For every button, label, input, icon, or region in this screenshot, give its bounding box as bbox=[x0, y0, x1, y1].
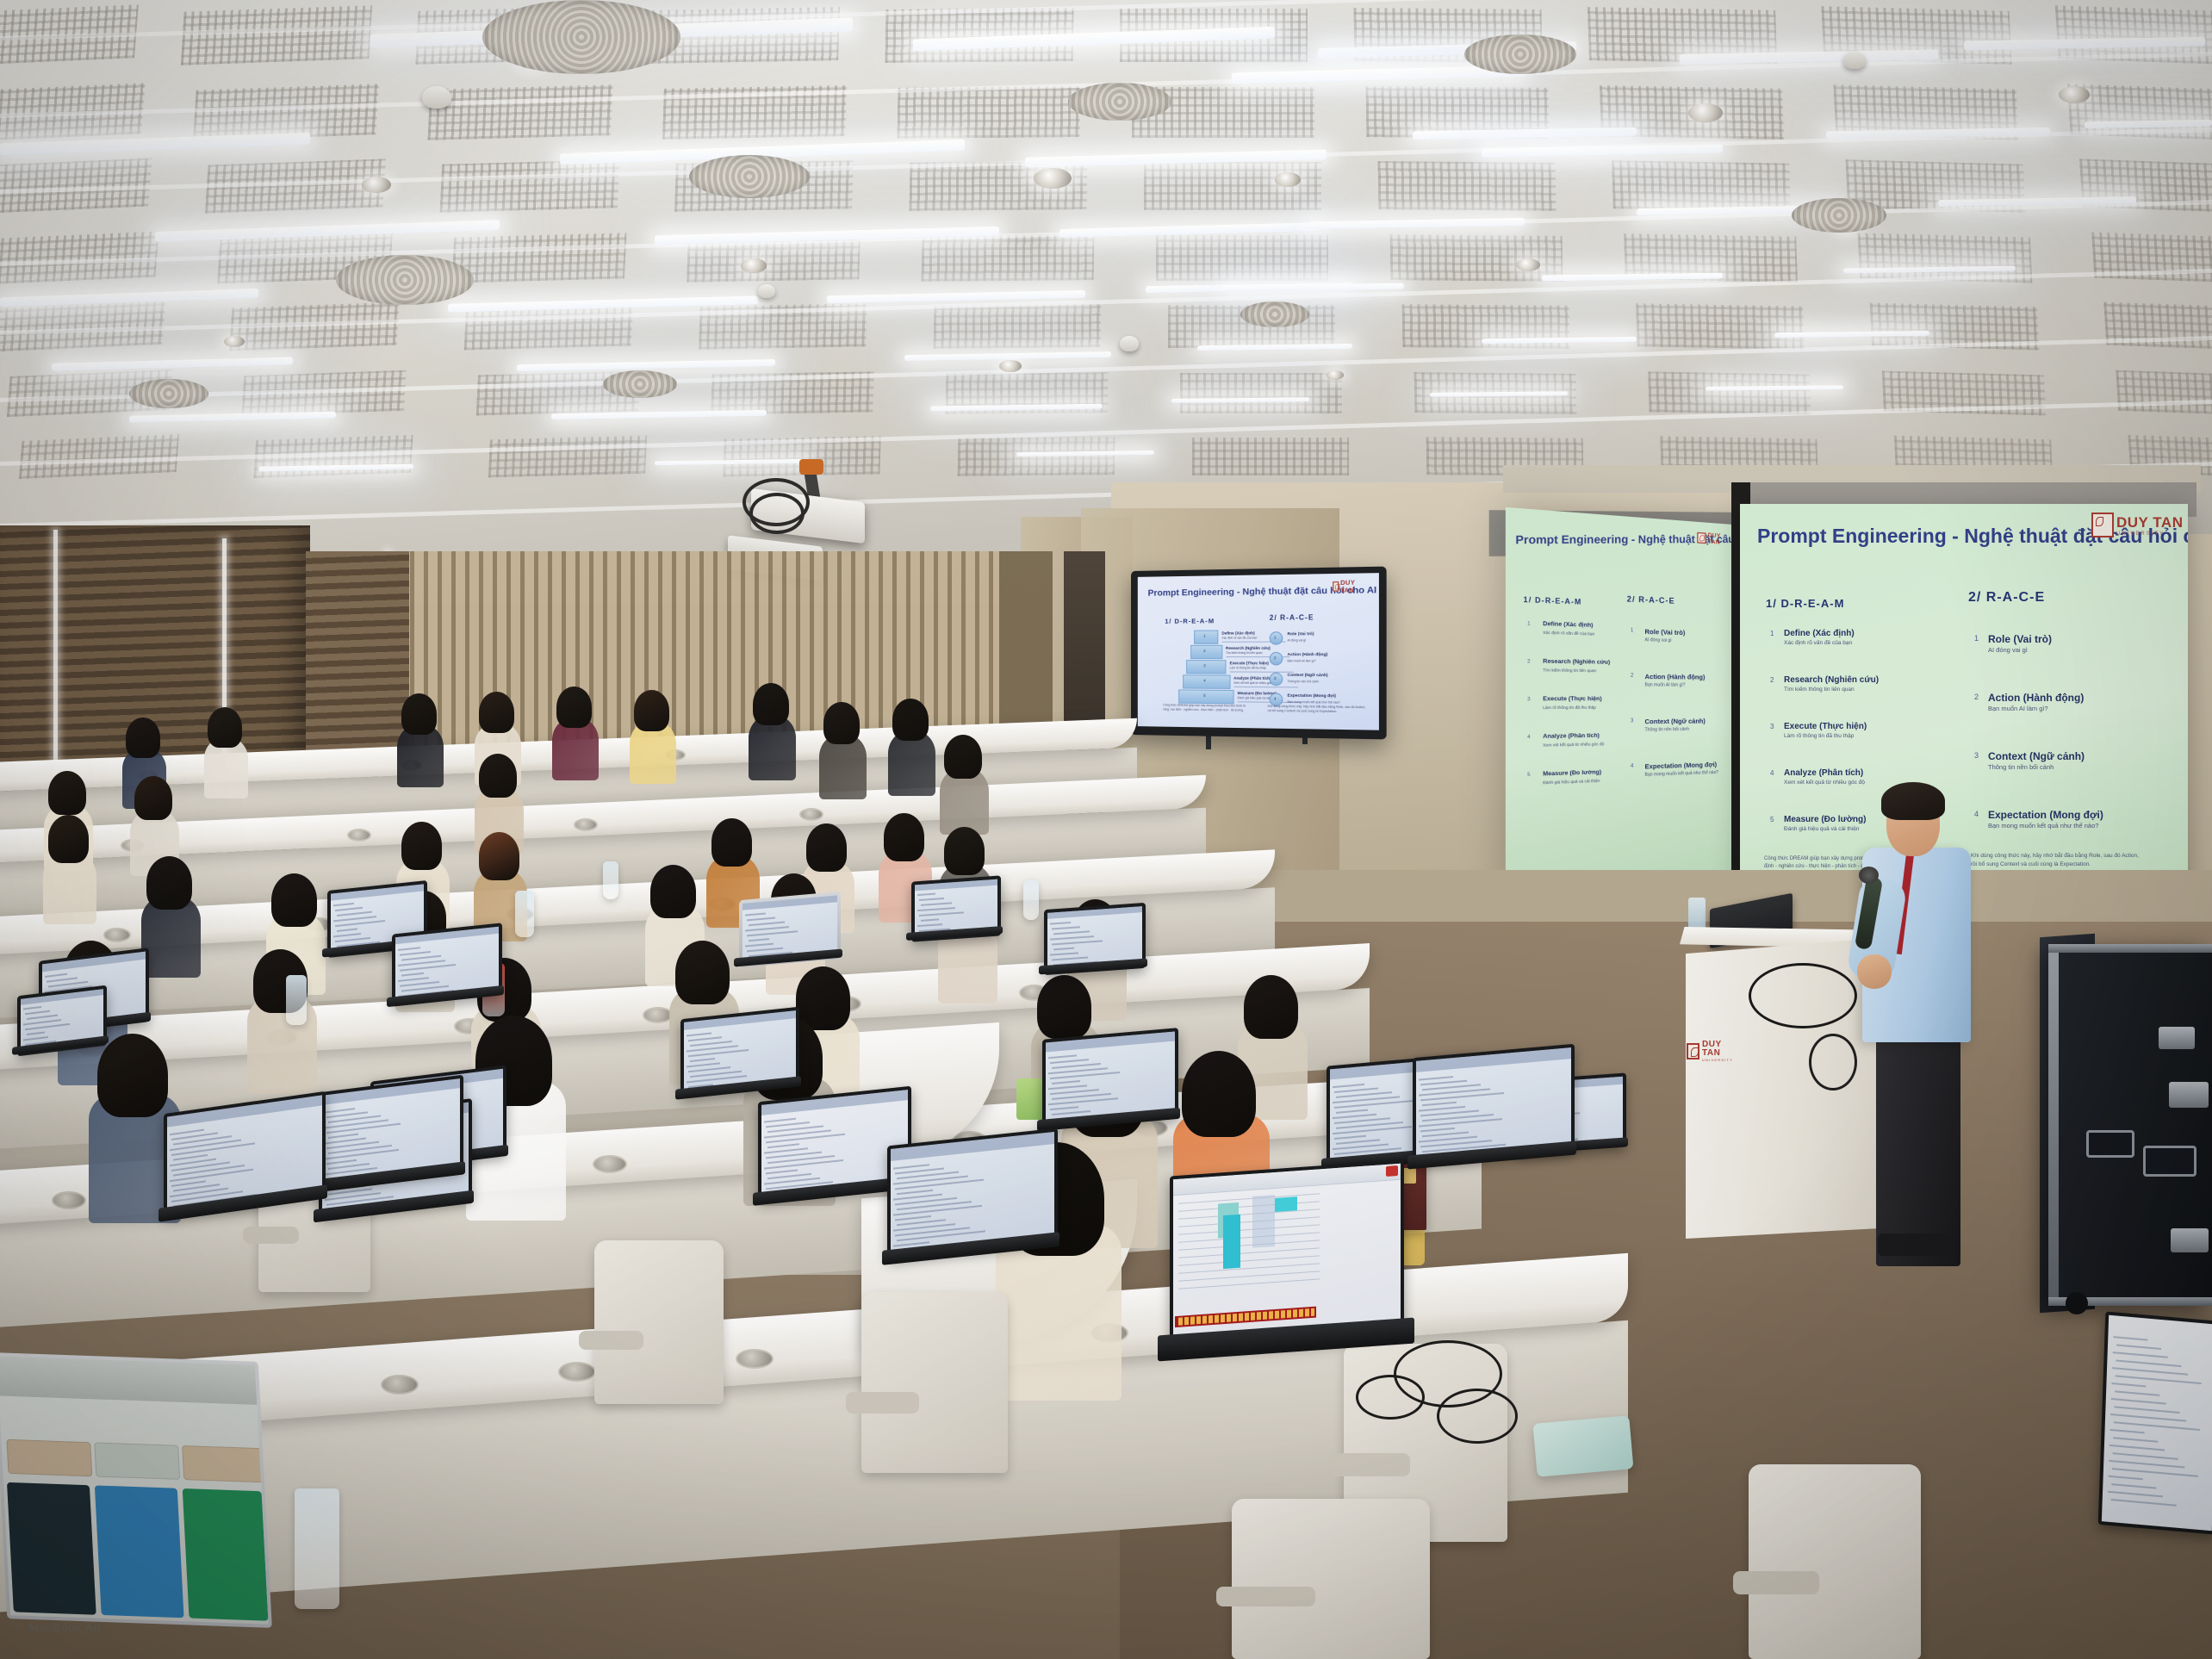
slide-item-number: 5 bbox=[1770, 816, 1774, 823]
lecture-hall-photo: Prompt Engineering - Nghệ thuật đặt câu … bbox=[0, 0, 2212, 1659]
slide-item-subtitle: Đánh giá hiệu quả và cải thiện bbox=[1543, 778, 1600, 785]
pyramid-step bbox=[1194, 630, 1218, 643]
laptop-text-line bbox=[398, 947, 420, 951]
laptop-text-line bbox=[2109, 1476, 2143, 1480]
laptop-text-line bbox=[917, 907, 955, 911]
slide-item-number: 2 bbox=[1974, 693, 1979, 701]
audience-hair bbox=[48, 771, 86, 815]
dashboard-card[interactable] bbox=[7, 1482, 96, 1615]
pyramid-rule bbox=[1230, 671, 1294, 672]
slide-heading-dream: 1/ D-R-E-A-M bbox=[1766, 597, 1844, 610]
laptop-text-line bbox=[2115, 1390, 2159, 1396]
case-handle[interactable] bbox=[2143, 1146, 2196, 1177]
pyramid-step-number: 2 bbox=[1203, 649, 1206, 653]
chair-armrest bbox=[579, 1331, 643, 1351]
laptop-text-line bbox=[398, 977, 429, 982]
slide-item-subtitle: Bạn mong muốn kết quả như thế nào? bbox=[1644, 769, 1718, 777]
slide-item-title: Context (Ngữ cảnh) bbox=[1988, 750, 2085, 762]
audience-hair bbox=[1244, 975, 1298, 1039]
pyramid-step bbox=[1178, 689, 1233, 704]
laptop-text-line bbox=[747, 947, 783, 952]
race-step-subtitle: Bạn mong muốn kết quả như thế nào? bbox=[1288, 700, 1340, 705]
laptop-text-line bbox=[917, 923, 942, 927]
slide-item-number: 1 bbox=[1527, 621, 1530, 627]
laptop-text-line bbox=[690, 1058, 715, 1062]
laptop-text-line bbox=[337, 928, 357, 931]
notification-banner bbox=[1175, 1307, 1316, 1327]
audience-hair bbox=[146, 856, 192, 910]
recessed-downlight bbox=[1275, 172, 1301, 187]
slide-item-subtitle: Đánh giá hiệu quả và cải thiện bbox=[1784, 826, 1859, 832]
laptop-text-line bbox=[921, 919, 939, 922]
laptop-text-line bbox=[2111, 1398, 2166, 1405]
laptop-text-line bbox=[895, 1179, 984, 1190]
slide-footnote-dream: Công thức DREAM giúp bạn xây dựng prompt… bbox=[1163, 703, 1250, 713]
laptop-text-line bbox=[2114, 1421, 2200, 1431]
slide-item-subtitle: Tìm kiếm thông tin liên quan bbox=[1784, 687, 1855, 693]
duy-tan-logo: DUY TAN bbox=[1697, 531, 1733, 547]
laptop-text-line bbox=[749, 938, 769, 941]
race-numbered-list: 1Role (Vai trò)AI đóng vai gì2Action (Hà… bbox=[1138, 573, 1379, 577]
ceiling-tile bbox=[922, 234, 1095, 282]
air-diffuser bbox=[482, 0, 680, 74]
pyramid-step-number: 1 bbox=[1203, 634, 1206, 638]
laptop-text-line bbox=[2109, 1445, 2165, 1451]
case-caster bbox=[2066, 1292, 2088, 1314]
smoke-detector bbox=[758, 284, 775, 298]
laptop-text-line bbox=[917, 893, 935, 896]
recessed-downlight bbox=[362, 177, 391, 193]
laptop-text-line bbox=[1050, 922, 1071, 925]
laptop-text-line bbox=[328, 1133, 358, 1138]
laptop-text-line bbox=[401, 972, 424, 976]
slide-item-subtitle: AI đóng vai gì bbox=[1644, 637, 1671, 643]
slide-footnote-race: Khi dùng công thức này, hãy nhớ bắt đầu … bbox=[1268, 705, 1366, 716]
ceiling-tile bbox=[1612, 160, 1791, 212]
air-diffuser bbox=[689, 155, 810, 198]
slide-item-subtitle: Thông tin nền bối cảnh bbox=[1988, 763, 2054, 771]
ceiling-tile bbox=[440, 159, 620, 212]
slide-item-title: Measure (Đo lường) bbox=[1784, 815, 1866, 824]
laptop-text-line bbox=[326, 1122, 401, 1134]
laptop-text-line bbox=[745, 912, 766, 916]
ceiling-tile bbox=[1192, 438, 1349, 475]
slide-item-number: 4 bbox=[1527, 735, 1530, 741]
race-step-subtitle: AI đóng vai gì bbox=[1288, 638, 1307, 642]
slide-item-title: Research (Nghiên cứu) bbox=[1784, 675, 1879, 685]
laptop-text-line bbox=[326, 1159, 357, 1165]
laptop-text-line bbox=[2113, 1351, 2168, 1358]
laptop-text-line bbox=[1048, 1055, 1077, 1059]
ceiling-tile bbox=[2116, 370, 2212, 416]
pyramid-step-number: 5 bbox=[1203, 693, 1206, 698]
pyramid-step-subtitle: Xác định rõ vấn đề của bạn bbox=[1221, 636, 1257, 639]
race-step-number: 4 bbox=[1274, 696, 1277, 700]
laptop-text-line bbox=[1052, 926, 1080, 929]
laptop-text-line bbox=[1050, 935, 1094, 941]
ceiling-tile bbox=[488, 436, 647, 478]
slide-heading-dream: 1/ D-R-E-A-M bbox=[1524, 595, 1582, 606]
chair bbox=[861, 1292, 1008, 1473]
laptop-right-edge bbox=[2098, 1311, 2212, 1534]
audience-hair bbox=[1182, 1051, 1256, 1138]
audience-hair bbox=[479, 754, 517, 798]
chair bbox=[1232, 1499, 1430, 1659]
dashboard-tile[interactable] bbox=[182, 1445, 263, 1482]
recessed-downlight bbox=[1327, 370, 1344, 380]
laptop-text-line bbox=[1333, 1084, 1364, 1088]
projector-cable bbox=[749, 493, 805, 534]
cable-grommet bbox=[558, 1362, 596, 1382]
laptop-text-line bbox=[335, 936, 370, 941]
air-diffuser bbox=[1068, 83, 1171, 121]
projection-screen-left: Prompt Engineering - Nghệ thuật đặt câu … bbox=[1506, 507, 1744, 888]
laptop-text-line bbox=[1052, 1080, 1080, 1084]
slide-item-title: Define (Xác định) bbox=[1543, 621, 1593, 629]
accessory-case bbox=[1533, 1415, 1634, 1477]
ceiling-tile bbox=[1648, 371, 1811, 414]
slide-item-subtitle: Bạn muốn AI làm gì? bbox=[1644, 682, 1685, 687]
slide-item-subtitle: Xem xét kết quả từ nhiều góc độ bbox=[1784, 780, 1865, 786]
race-step-title: Expectation (Mong đợi) bbox=[1288, 694, 1336, 699]
laptop-text-line bbox=[45, 973, 67, 978]
slide-item-subtitle: Xác định rõ vấn đề của bạn bbox=[1784, 640, 1852, 646]
laptop-text-line bbox=[688, 1036, 722, 1041]
slide-item-subtitle: Làm rõ thông tin đã thu thập bbox=[1543, 705, 1596, 710]
slide-item-title: Expectation (Mong đợi) bbox=[1988, 809, 2103, 821]
pyramid-step-subtitle: Làm rõ thông tin đã thu thập bbox=[1230, 666, 1266, 669]
case-latch[interactable] bbox=[2159, 1027, 2195, 1049]
laptop-text-line bbox=[335, 906, 363, 910]
smoke-detector bbox=[422, 86, 451, 109]
laptop-text-line bbox=[2113, 1452, 2178, 1460]
recessed-downlight bbox=[1688, 103, 1723, 122]
slide-item-subtitle: Thông tin nền bối cảnh bbox=[1644, 726, 1688, 732]
laptop-text-line bbox=[23, 1006, 41, 1010]
laptop-text-line bbox=[25, 1010, 50, 1016]
ceiling-tile bbox=[2103, 302, 2212, 351]
audience-hair bbox=[892, 699, 929, 742]
laptop-text-line bbox=[47, 977, 78, 982]
slide-item-number: 3 bbox=[1974, 751, 1979, 760]
laptop-text-line bbox=[747, 930, 798, 936]
dashboard-tile[interactable] bbox=[6, 1439, 92, 1477]
macbook-screen bbox=[0, 1356, 269, 1624]
audience-hair bbox=[556, 687, 592, 728]
microphone-cable bbox=[1809, 1034, 1857, 1090]
slide-footnote-race: Khi dùng công thức này, hãy nhớ bắt đầu … bbox=[1971, 852, 2143, 869]
laptop-text-line bbox=[1050, 1107, 1078, 1111]
slide-item-title: Action (Hành động) bbox=[1988, 692, 2084, 704]
laptop-text-line bbox=[1333, 1114, 1376, 1119]
ceiling-tile bbox=[934, 304, 1102, 349]
slide-item-title: Role (Vai trò) bbox=[1644, 628, 1685, 637]
laptop-text-line bbox=[337, 910, 372, 916]
laptop-text-line bbox=[1334, 1135, 1366, 1140]
slide-item-subtitle: Tìm kiếm thông tin liên quan bbox=[1543, 668, 1596, 673]
audience-hair bbox=[48, 815, 90, 863]
laptop-text-line bbox=[895, 1215, 931, 1221]
presenter-legs bbox=[1876, 1034, 1960, 1266]
laptop-text-line bbox=[2116, 1375, 2202, 1384]
laptop-text-line bbox=[325, 1108, 355, 1113]
audience-hair bbox=[944, 827, 985, 875]
slide-heading-race: 2/ R-A-C-E bbox=[1270, 613, 1314, 622]
laptop-text-line bbox=[2116, 1359, 2181, 1367]
laptop-text-line bbox=[1050, 953, 1078, 956]
slide-item-number: 5 bbox=[1527, 773, 1530, 779]
laptop-text-line bbox=[767, 1144, 799, 1149]
projector-mount-cap bbox=[799, 459, 823, 475]
pyramid-step-title: Research (Nghiên cứu) bbox=[1226, 646, 1271, 650]
laptop-screen bbox=[1173, 1164, 1401, 1343]
laptop-text-line bbox=[400, 951, 431, 956]
slide-item-number: 3 bbox=[1527, 697, 1530, 703]
laptop-text-line bbox=[2116, 1344, 2161, 1350]
case-handle[interactable] bbox=[2086, 1130, 2134, 1158]
ceiling-tile bbox=[193, 84, 379, 140]
recessed-downlight bbox=[741, 258, 767, 273]
cable-loop bbox=[1356, 1375, 1425, 1420]
slide-item-title: Research (Nghiên cứu) bbox=[1543, 658, 1610, 666]
laptop-foreground bbox=[1170, 1159, 1404, 1346]
audience-hair bbox=[479, 832, 520, 880]
laptop-text-line bbox=[745, 942, 774, 947]
air-diffuser bbox=[603, 370, 677, 398]
dashboard-tile[interactable] bbox=[94, 1442, 180, 1480]
chair-armrest bbox=[1733, 1571, 1819, 1594]
smoke-detector bbox=[1843, 52, 1866, 69]
laptop-text-line bbox=[27, 1032, 45, 1036]
cable-grommet bbox=[381, 1375, 419, 1395]
laptop-text-line bbox=[1048, 1085, 1087, 1090]
microphone-head bbox=[1859, 867, 1879, 884]
presenter-hair bbox=[1881, 782, 1945, 820]
slide-heading-dream: 1/ D-R-E-A-M bbox=[1165, 617, 1215, 625]
browser-toolbar bbox=[0, 1356, 257, 1405]
microphone-cable bbox=[1749, 963, 1857, 1028]
slide-item-title: Define (Xác định) bbox=[1784, 629, 1855, 638]
audience-hair bbox=[401, 822, 443, 870]
slide-item-title: Execute (Thực hiện) bbox=[1543, 696, 1601, 703]
race-step-title: Role (Vai trò) bbox=[1288, 632, 1314, 637]
pyramid-step bbox=[1186, 660, 1226, 674]
pyramid-step-subtitle: Tìm kiếm thông tin liên quan bbox=[1226, 651, 1262, 655]
ceiling-tile bbox=[1390, 234, 1563, 282]
laptop-text-line bbox=[919, 912, 964, 917]
slide-item-title: Measure (Đo lường) bbox=[1543, 769, 1601, 778]
case-latch[interactable] bbox=[2171, 1228, 2209, 1252]
audience-hair bbox=[944, 735, 982, 779]
laptop-text-line bbox=[2110, 1429, 2145, 1433]
laptop-screen bbox=[2102, 1315, 2212, 1532]
slide-item-number: 2 bbox=[1527, 659, 1530, 665]
dashboard-card[interactable] bbox=[183, 1488, 269, 1621]
smoke-detector bbox=[1120, 336, 1139, 351]
cable-grommet bbox=[593, 1155, 627, 1173]
ceiling-tile bbox=[452, 233, 627, 283]
slide-item-subtitle: Xem xét kết quả từ nhiều góc độ bbox=[1543, 741, 1604, 747]
recessed-downlight bbox=[1034, 168, 1072, 189]
slide-item-number: 1 bbox=[1631, 628, 1633, 633]
pyramid-step bbox=[1190, 645, 1222, 659]
spreadsheet-highlight-cell bbox=[1252, 1195, 1275, 1248]
laptop-text-line bbox=[749, 921, 785, 926]
laptop-text-line bbox=[2111, 1483, 2156, 1489]
audience-hair bbox=[806, 823, 848, 872]
audience-hair bbox=[711, 818, 753, 867]
race-step-number: 2 bbox=[1274, 656, 1277, 660]
laptop-text-line bbox=[23, 1036, 48, 1041]
ceiling-tile bbox=[1180, 373, 1342, 413]
laptop-text-line bbox=[766, 1170, 798, 1175]
race-step-number: 3 bbox=[1274, 675, 1277, 680]
ceiling-tile bbox=[1636, 303, 1805, 349]
laptop-text-line bbox=[893, 1165, 929, 1170]
slide-item-title: Context (Ngữ cảnh) bbox=[1644, 717, 1705, 725]
air-diffuser bbox=[336, 255, 474, 305]
laptop-text-line bbox=[333, 902, 354, 905]
laptop-text-line bbox=[1420, 1128, 1455, 1132]
laptop-text-line bbox=[2111, 1382, 2146, 1387]
race-step-subtitle: Bạn muốn AI làm gì? bbox=[1288, 659, 1316, 662]
spreadsheet-row bbox=[1178, 1278, 1320, 1289]
air-diffuser bbox=[1792, 198, 1886, 233]
slide-item-subtitle: Làm rõ thông tin đã thu thập bbox=[1784, 733, 1854, 739]
spreadsheet-highlight-cell bbox=[1275, 1196, 1297, 1212]
laptop-toolbar bbox=[915, 879, 997, 892]
chair-armrest bbox=[243, 1227, 299, 1244]
audience-hair bbox=[97, 1034, 169, 1117]
laptop-text-line bbox=[687, 1063, 720, 1068]
laptop-text-line bbox=[2111, 1499, 2177, 1507]
chair-armrest bbox=[846, 1392, 919, 1414]
ceiling-tile bbox=[898, 86, 1081, 139]
cable-grommet bbox=[736, 1349, 774, 1369]
audience-hair bbox=[884, 813, 925, 861]
podium-logo: DUY TAN UNIVERSITY bbox=[1687, 1041, 1737, 1070]
slide-item-number: 1 bbox=[1974, 634, 1979, 643]
laptop-text-line bbox=[745, 926, 789, 931]
ceiling-tile bbox=[427, 84, 612, 140]
close-icon[interactable] bbox=[1386, 1165, 1398, 1177]
race-step-title: Action (Hành động) bbox=[1288, 653, 1328, 657]
laptop-text-line bbox=[1052, 941, 1103, 946]
ceiling-tile bbox=[1378, 161, 1556, 211]
laptop-text-line bbox=[2112, 1468, 2198, 1477]
laptop-text-line bbox=[1050, 1059, 1089, 1064]
wall-display: Prompt Engineering - Nghệ thuật đặt câu … bbox=[1131, 567, 1387, 740]
audience-hair bbox=[1037, 975, 1091, 1039]
slide-item-number: 1 bbox=[1770, 630, 1774, 637]
presenter-shoe bbox=[1878, 1233, 1952, 1256]
laptop-text-line bbox=[1052, 1110, 1090, 1115]
ceiling-tile bbox=[1144, 162, 1321, 210]
laptop-text-line bbox=[919, 898, 944, 901]
laptop-text-line bbox=[921, 902, 952, 906]
laptop-text-line bbox=[1053, 931, 1090, 935]
slide-item-title: Role (Vai trò) bbox=[1988, 633, 2052, 645]
laptop-text-line bbox=[747, 916, 775, 921]
laptop-text-line bbox=[897, 1231, 985, 1242]
presenter-hand bbox=[1857, 954, 1892, 989]
ceiling-tile bbox=[181, 5, 372, 65]
slide-item-title: Analyze (Phân tích) bbox=[1543, 732, 1600, 740]
cable-grommet bbox=[347, 829, 371, 842]
chair bbox=[594, 1240, 724, 1404]
slide-item-subtitle: AI đóng vai gì bbox=[1988, 646, 2028, 654]
laptop-text-line bbox=[1422, 1102, 1457, 1106]
duy-tan-logo: DUY TAN bbox=[1333, 579, 1358, 594]
slide-item-subtitle: Bạn muốn AI làm gì? bbox=[1988, 705, 2048, 712]
laptop-text-line bbox=[1334, 1087, 1378, 1092]
slide-item-subtitle: Xác định rõ vấn đề của bạn bbox=[1543, 630, 1594, 636]
laptop-text-line bbox=[2108, 1491, 2163, 1498]
pyramid-rule bbox=[1233, 687, 1297, 688]
ceiling-tile bbox=[1156, 235, 1328, 281]
slide-item-number: 2 bbox=[1631, 674, 1633, 679]
laptop-toolbar bbox=[1047, 906, 1142, 919]
slide-item-subtitle: Bạn mong muốn kết quả như thế nào? bbox=[1988, 822, 2098, 829]
air-diffuser bbox=[1464, 34, 1576, 74]
dream-pyramid-diagram: 1Define (Xác định)Xác định rõ vấn đề của… bbox=[1138, 573, 1379, 577]
race-step-subtitle: Thông tin nền bối cảnh bbox=[1288, 680, 1319, 683]
chair-armrest bbox=[1328, 1453, 1410, 1477]
audience-hair bbox=[126, 718, 160, 758]
wall-display-screen: Prompt Engineering - Nghệ thuật đặt câu … bbox=[1138, 573, 1379, 730]
laptop-text-line bbox=[1052, 957, 1088, 961]
audience-hair bbox=[634, 690, 669, 731]
spreadsheet-highlight-cell bbox=[1223, 1215, 1240, 1269]
macbook-air bbox=[0, 1352, 272, 1628]
slide-item-title: Expectation (Mong đợi) bbox=[1644, 761, 1717, 771]
slide-item-number: 4 bbox=[1770, 769, 1774, 777]
laptop-text-line bbox=[1053, 948, 1074, 951]
pyramid-step-number: 3 bbox=[1203, 663, 1206, 668]
dashboard-card[interactable] bbox=[95, 1485, 184, 1618]
air-diffuser bbox=[1240, 301, 1309, 327]
laptop-text-line bbox=[2112, 1367, 2188, 1376]
slide-item-title: Action (Hành động) bbox=[1644, 673, 1705, 681]
chair-armrest bbox=[1216, 1587, 1315, 1606]
laptop-text-line bbox=[897, 1190, 933, 1195]
slide-item-number: 2 bbox=[1770, 676, 1774, 684]
race-step-number: 1 bbox=[1274, 635, 1277, 639]
air-diffuser bbox=[129, 379, 208, 408]
slide-item-number: 3 bbox=[1770, 723, 1774, 730]
slide-item-title: Analyze (Phân tích) bbox=[1784, 768, 1863, 778]
case-latch[interactable] bbox=[2169, 1082, 2209, 1108]
water-bottle bbox=[295, 1488, 339, 1609]
cable-grommet bbox=[574, 818, 598, 831]
slide-item-number: 4 bbox=[1974, 810, 1979, 818]
laptop-text-line bbox=[1419, 1076, 1453, 1080]
laptop-text-line bbox=[893, 1205, 982, 1216]
pyramid-step-number: 4 bbox=[1203, 678, 1206, 682]
pyramid-step-title: Define (Xác định) bbox=[1221, 631, 1254, 635]
race-step-title: Context (Ngữ cảnh) bbox=[1288, 674, 1328, 678]
pyramid-step-title: Analyze (Phân tích) bbox=[1233, 676, 1271, 680]
pyramid-step-title: Execute (Thực hiện) bbox=[1230, 661, 1269, 665]
audience-hair bbox=[823, 702, 860, 745]
audience-hair bbox=[479, 692, 514, 733]
recessed-downlight bbox=[2059, 86, 2090, 103]
laptop-text-line bbox=[325, 1149, 399, 1160]
chair bbox=[1749, 1464, 1921, 1659]
laptop-text-line bbox=[2113, 1336, 2147, 1340]
ceiling-tile bbox=[958, 437, 1115, 476]
audience-hair bbox=[208, 707, 242, 748]
